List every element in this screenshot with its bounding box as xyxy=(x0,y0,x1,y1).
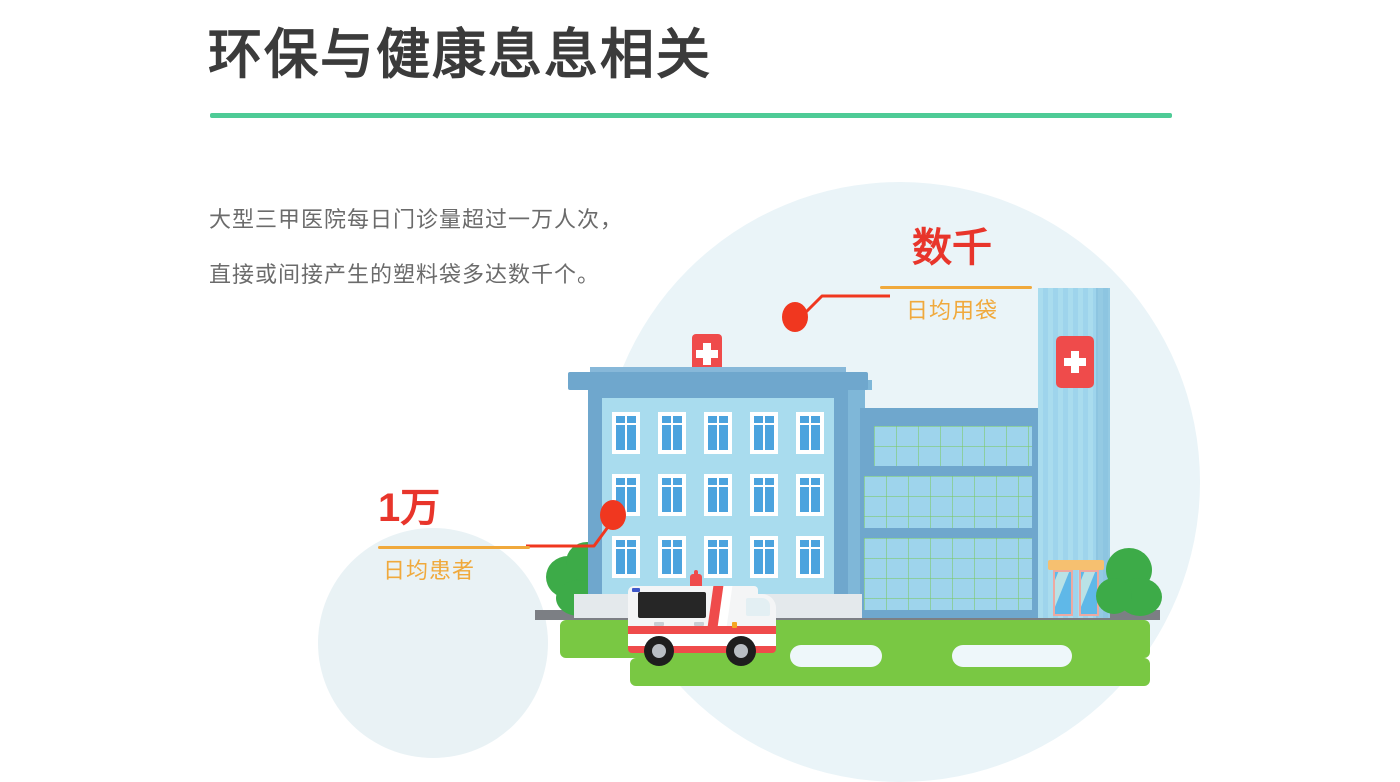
bush-icon xyxy=(1096,578,1132,614)
glass-panel xyxy=(864,538,1032,610)
callout-value: 1万 xyxy=(378,488,440,528)
red-cross-sign-icon xyxy=(1056,336,1094,388)
window xyxy=(796,412,824,454)
ambulance-handle xyxy=(654,622,664,626)
window xyxy=(612,412,640,454)
title-underline xyxy=(210,113,1172,118)
callout-rule xyxy=(880,286,1032,289)
ambulance-wheel xyxy=(726,636,756,666)
callout-rule xyxy=(378,546,530,549)
entrance-door xyxy=(1053,570,1073,616)
glass-wing-building xyxy=(860,408,1045,618)
ambulance-windshield xyxy=(746,598,770,616)
glass-panel xyxy=(864,476,1032,528)
window xyxy=(704,412,732,454)
hospital-tower xyxy=(1038,288,1110,618)
callout-value: 数千 xyxy=(912,228,992,268)
window xyxy=(704,474,732,516)
callout-dot-bags xyxy=(782,302,808,332)
ambulance-marker xyxy=(632,588,640,592)
window xyxy=(750,412,778,454)
window-grid xyxy=(612,412,826,582)
window xyxy=(796,536,824,578)
window xyxy=(658,412,686,454)
grass-band-lower xyxy=(630,658,1150,686)
hospital-entrance xyxy=(1050,560,1102,616)
ambulance xyxy=(628,570,778,662)
body-paragraph: 大型三甲医院每日门诊量超过一万人次，直接或间接产生的塑料袋多达数千个。 xyxy=(209,192,639,302)
ambulance-indicator xyxy=(732,622,737,628)
window xyxy=(796,474,824,516)
entrance-canopy xyxy=(1048,560,1104,570)
page-title: 环保与健康息息相关 xyxy=(208,24,712,86)
ambulance-wheel xyxy=(644,636,674,666)
glass-panel xyxy=(874,426,1032,466)
ambulance-handle xyxy=(694,622,704,626)
lane-marking xyxy=(952,645,1072,667)
callout-dot-patients xyxy=(600,500,626,530)
callout-label: 日均患者 xyxy=(383,560,475,582)
roof-slab xyxy=(568,372,868,390)
window xyxy=(750,474,778,516)
window xyxy=(658,474,686,516)
lane-marking xyxy=(790,645,882,667)
callout-label: 日均用袋 xyxy=(906,300,998,322)
ambulance-window xyxy=(638,592,706,618)
slide-canvas: 环保与健康息息相关 大型三甲医院每日门诊量超过一万人次，直接或间接产生的塑料袋多… xyxy=(0,0,1400,700)
